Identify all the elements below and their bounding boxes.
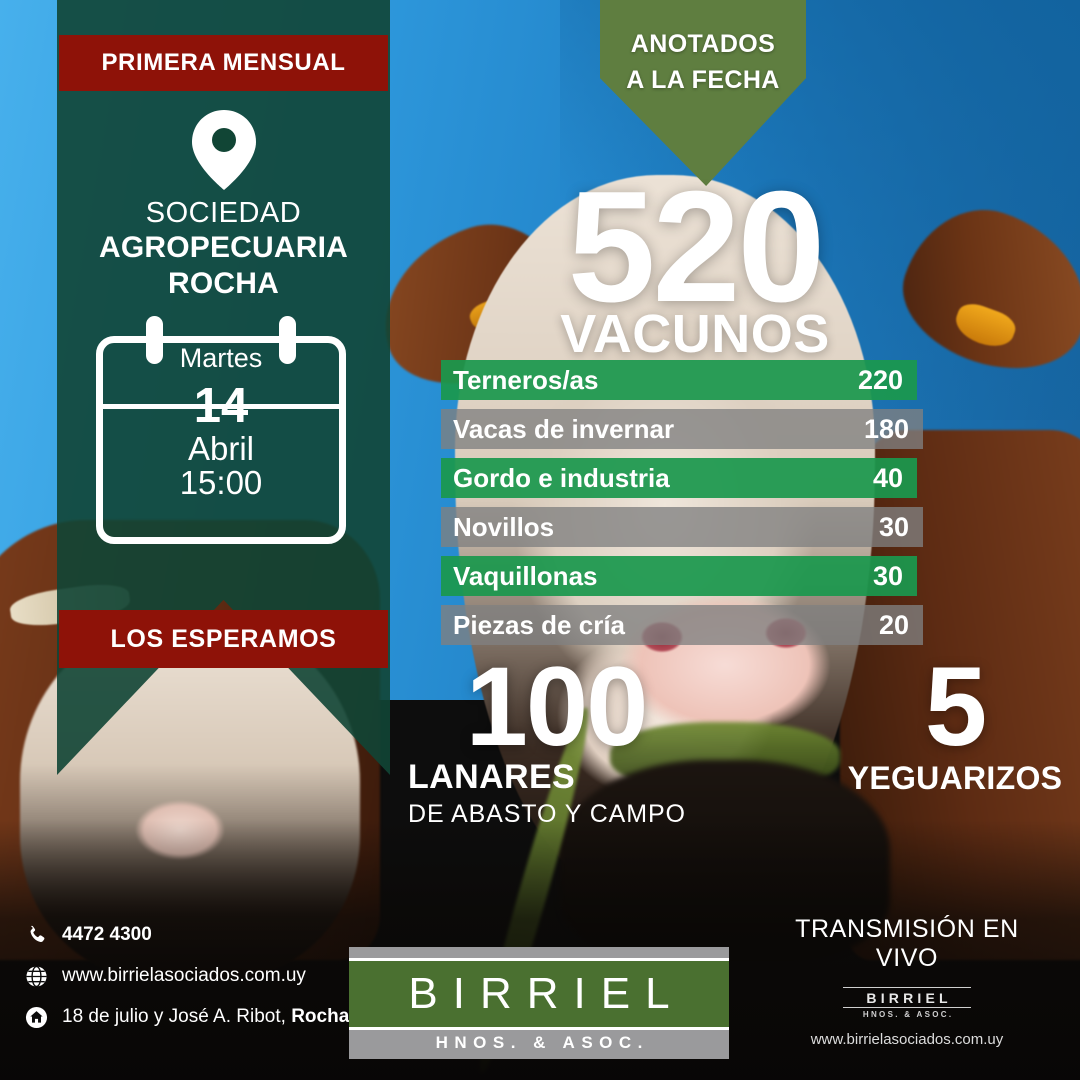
lanares-block: 100 LANARES DE ABASTO Y CAMPO xyxy=(396,660,716,829)
live-broadcast-block: TRANSMISIÓN EN VIVO BIRRIEL HNOS. & ASOC… xyxy=(762,915,1052,1048)
contact-address-row[interactable]: 18 de julio y José A. Ribot, Rocha xyxy=(24,1005,354,1029)
yeguarizos-block: 5 YEGUARIZOS xyxy=(840,660,1070,797)
table-row: Vaquillonas 30 xyxy=(441,556,917,596)
birriel-logo-subtitle: HNOS. & ASOC. xyxy=(349,1030,729,1056)
birriel-logo-name: BIRRIEL xyxy=(393,969,684,1019)
arrow-line-a-la-fecha: A LA FECHA xyxy=(592,62,814,98)
birriel-logo-subtitle-text: HNOS. & ASOC. xyxy=(429,1033,649,1053)
calendar-weekday: Martes xyxy=(96,342,346,376)
contact-website-text: www.birrielasociados.com.uy xyxy=(62,965,306,987)
yeguarizos-count: 5 xyxy=(840,660,1070,754)
address-street: 18 de julio y José A. Ribot, xyxy=(62,1006,291,1027)
org-line-agropecuaria: AGROPECUARIA xyxy=(57,230,390,265)
home-icon xyxy=(24,1005,48,1029)
location-pin-icon xyxy=(183,108,265,192)
poster-canvas: PRIMERA MENSUAL SOCIEDAD AGROPECUARIA RO… xyxy=(0,0,1080,1080)
calendar-month: Abril xyxy=(96,432,346,465)
org-line-sociedad: SOCIEDAD xyxy=(57,196,390,230)
arrow-callout-text: ANOTADOS A LA FECHA xyxy=(592,26,814,99)
table-row-value: 30 xyxy=(879,512,909,543)
table-row-value: 40 xyxy=(873,463,903,494)
live-birriel-logo: BIRRIEL HNOS. & ASOC. xyxy=(843,984,971,1022)
table-row-value: 180 xyxy=(864,414,909,445)
table-row-label: Terneros/as xyxy=(453,365,598,396)
lanares-label: LANARES xyxy=(396,758,716,797)
contact-footer: 4472 4300 www.birrielasociados.com.uy xyxy=(24,923,354,1046)
birriel-logo: BIRRIEL HNOS. & ASOC. xyxy=(349,947,729,1059)
table-row: Terneros/as 220 xyxy=(441,360,917,400)
calendar-day: 14 xyxy=(96,382,346,432)
table-row: Piezas de cría 20 xyxy=(441,605,923,645)
yeguarizos-label: YEGUARIZOS xyxy=(840,760,1070,797)
globe-icon xyxy=(24,964,48,988)
banner-primera-mensual: PRIMERA MENSUAL xyxy=(59,35,388,91)
table-row-value: 30 xyxy=(873,561,903,592)
lanares-sublabel: DE ABASTO Y CAMPO xyxy=(396,800,716,829)
banner-los-esperamos: LOS ESPERAMOS xyxy=(59,610,388,668)
phone-icon xyxy=(24,923,48,947)
arrow-line-anotados: ANOTADOS xyxy=(592,26,814,62)
vacunos-count: 520 xyxy=(430,178,960,317)
lanares-count: 100 xyxy=(396,660,716,754)
contact-address-text: 18 de julio y José A. Ribot, Rocha xyxy=(62,1006,349,1028)
event-date-calendar: Martes 14 Abril 15:00 xyxy=(96,316,346,544)
contact-phone-row[interactable]: 4472 4300 xyxy=(24,923,354,947)
table-row-label: Piezas de cría xyxy=(453,610,625,641)
table-row-value: 20 xyxy=(879,610,909,641)
contact-website-row[interactable]: www.birrielasociados.com.uy xyxy=(24,964,354,988)
live-broadcast-title: TRANSMISIÓN EN VIVO xyxy=(762,915,1052,973)
vacunos-headline: 520 VACUNOS xyxy=(430,178,960,365)
table-row: Gordo e industria 40 xyxy=(441,458,917,498)
calendar-text: Martes 14 Abril 15:00 xyxy=(96,342,346,500)
live-birriel-logo-name: BIRRIEL xyxy=(843,987,971,1008)
table-row-label: Novillos xyxy=(453,512,554,543)
calendar-time: 15:00 xyxy=(96,465,346,501)
live-website-url: www.birrielasociados.com.uy xyxy=(762,1031,1052,1048)
banner-primera-mensual-label: PRIMERA MENSUAL xyxy=(101,49,345,77)
vacunos-label: VACUNOS xyxy=(430,303,960,365)
livestock-category-table: Terneros/as 220 Vacas de invernar 180 Go… xyxy=(441,360,923,654)
live-birriel-logo-subtitle: HNOS. & ASOC. xyxy=(861,1010,954,1019)
table-row-label: Vaquillonas xyxy=(453,561,598,592)
table-row-label: Gordo e industria xyxy=(453,463,670,494)
organization-name: SOCIEDAD AGROPECUARIA ROCHA xyxy=(57,196,390,301)
table-row: Vacas de invernar 180 xyxy=(441,409,923,449)
org-line-rocha: ROCHA xyxy=(57,266,390,301)
address-city: Rocha xyxy=(291,1006,349,1027)
contact-phone-text: 4472 4300 xyxy=(62,924,152,946)
table-row-value: 220 xyxy=(858,365,903,396)
birriel-logo-wordmark: BIRRIEL xyxy=(349,958,729,1030)
table-row: Novillos 30 xyxy=(441,507,923,547)
table-row-label: Vacas de invernar xyxy=(453,414,674,445)
banner-los-esperamos-label: LOS ESPERAMOS xyxy=(111,625,337,654)
